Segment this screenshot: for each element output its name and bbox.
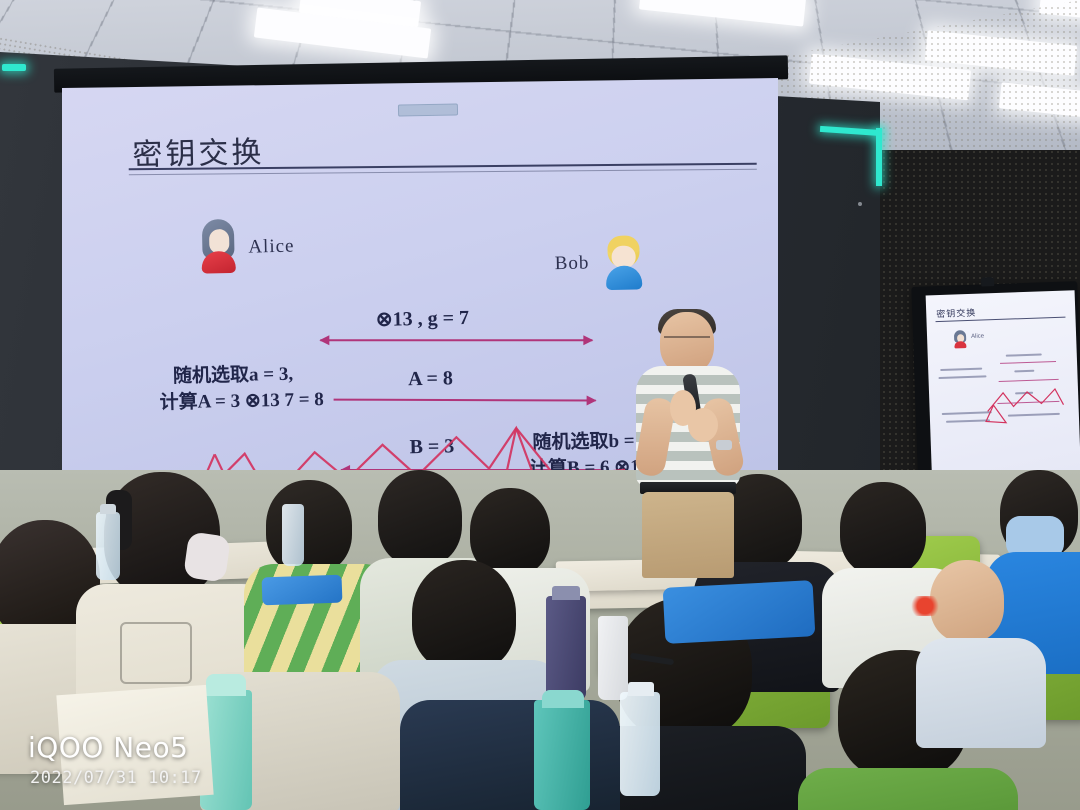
student-14-torso [916, 638, 1046, 748]
student-4-head [378, 470, 462, 566]
monitor-camera-icon [981, 277, 994, 286]
bottle-cap-4 [552, 586, 580, 600]
bottle-cap-7 [628, 682, 654, 696]
presenter-glasses-icon [664, 336, 710, 344]
monitor-screen: 密钥交换 Alice [926, 290, 1080, 478]
water-bottle-3 [282, 504, 304, 566]
classroom-photo: 密钥交换 Alice Bob ⊗13 , g = 7 随机选取a [0, 0, 1080, 810]
student-6-head [412, 560, 516, 672]
presenter-hand-right [688, 408, 718, 442]
water-bottle-4 [546, 596, 586, 700]
water-bottle-1 [96, 512, 120, 580]
water-bottle-7 [620, 692, 660, 796]
watermark-brand: iQOO Neo5 [28, 731, 188, 764]
student-11-torso [798, 768, 1018, 810]
bottle-cap-1 [100, 504, 116, 514]
student-2-shirt-print [120, 622, 192, 684]
bottle-cap-2 [206, 674, 246, 696]
water-bottle-6 [534, 700, 590, 810]
projector-label-plate [398, 103, 458, 116]
monitor-ink-layer [926, 290, 1080, 478]
side-monitor: 密钥交换 Alice [911, 281, 1080, 501]
student-3-head [266, 480, 352, 574]
red-flower-clip [908, 596, 942, 616]
student-8-head [840, 482, 926, 576]
blue-item-left [262, 575, 343, 606]
bottle-cap-6 [542, 690, 584, 708]
watermark-datetime: 2022/07/31 10:17 [30, 768, 202, 788]
water-bottle-5 [598, 616, 628, 700]
student-2-mask [183, 531, 231, 582]
presenter-watch [716, 440, 732, 450]
wall-dot [858, 202, 862, 206]
presenter [630, 312, 752, 577]
accent-light-left [2, 64, 26, 71]
blue-bag [663, 580, 816, 644]
presenter-trousers [642, 492, 734, 578]
